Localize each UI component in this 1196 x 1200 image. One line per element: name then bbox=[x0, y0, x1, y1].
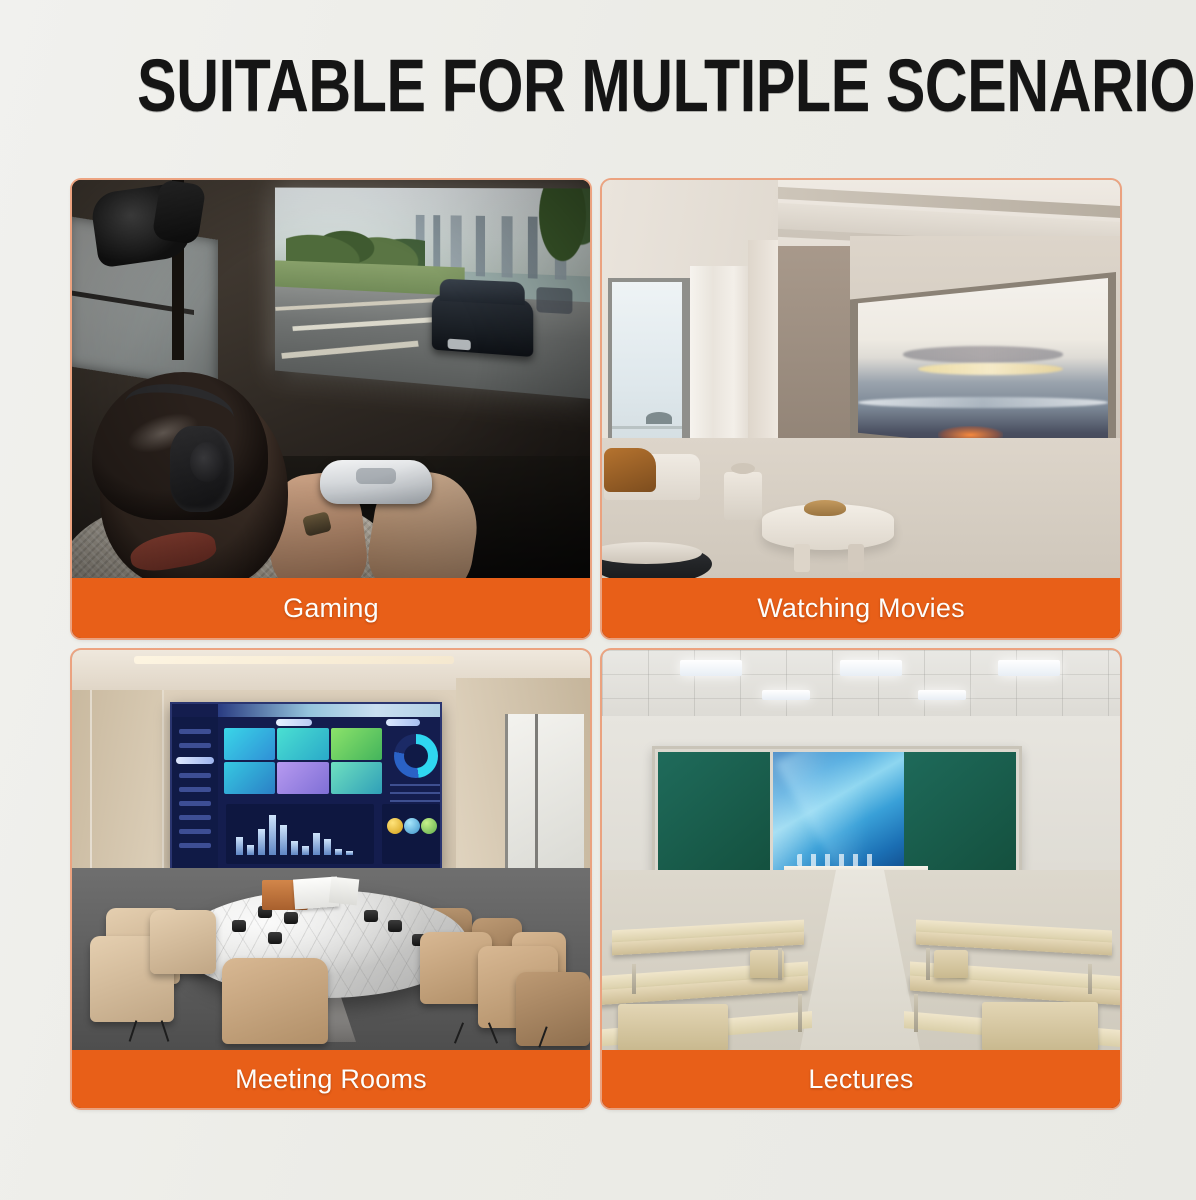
lecture-hall-photo bbox=[602, 650, 1120, 1050]
bar bbox=[346, 851, 353, 855]
gauge-blue bbox=[404, 818, 420, 834]
window-island-view bbox=[646, 412, 672, 424]
classroom-projection-screen bbox=[773, 752, 905, 870]
bar bbox=[335, 849, 342, 855]
projector-screen bbox=[858, 278, 1108, 458]
kpi-tile bbox=[277, 728, 328, 760]
kpi-tile bbox=[224, 762, 275, 794]
coffee-table-leg bbox=[848, 544, 864, 572]
projection-desktop-icons bbox=[797, 854, 881, 867]
caption-lectures: Lectures bbox=[602, 1050, 1120, 1108]
ceiling-light-panel bbox=[680, 660, 742, 676]
dashboard-gauges bbox=[382, 804, 440, 864]
bar bbox=[291, 841, 298, 855]
side-table bbox=[724, 472, 762, 520]
dashboard-menu-item bbox=[179, 743, 211, 748]
scenario-card-watching-movies[interactable]: Watching Movies bbox=[602, 180, 1120, 638]
bar bbox=[269, 815, 276, 855]
desk-leg bbox=[914, 994, 918, 1032]
bar bbox=[258, 829, 265, 855]
conference-chair bbox=[516, 972, 590, 1046]
ceiling-light-panel bbox=[918, 690, 966, 700]
bar bbox=[302, 846, 309, 855]
meeting-cove-light bbox=[134, 656, 454, 664]
desk-leg bbox=[632, 964, 636, 994]
dashboard-menu-item bbox=[179, 773, 211, 778]
product-feature-page: SUITABLE FOR MULTIPLE SCENARIOS bbox=[0, 0, 1196, 1200]
dashboard-menu-item bbox=[179, 815, 211, 820]
dashboard-menu-item bbox=[179, 829, 211, 834]
ceiling-light-panel bbox=[840, 660, 902, 676]
page-title: SUITABLE FOR MULTIPLE SCENARIOS bbox=[137, 48, 1196, 124]
dashboard-menu-item-active bbox=[176, 757, 214, 764]
dashboard-display bbox=[170, 702, 442, 870]
kpi-tile bbox=[331, 728, 382, 760]
dashboard-header-bar bbox=[218, 704, 442, 717]
scenario-card-lectures[interactable]: Lectures bbox=[602, 650, 1120, 1108]
chalkboard-assembly bbox=[652, 746, 1022, 874]
conference-microphone bbox=[284, 912, 298, 924]
conference-chair bbox=[222, 958, 328, 1044]
dashboard-bar-chart bbox=[226, 804, 374, 864]
dashboard-menu-item bbox=[179, 729, 211, 734]
dashboard-menu-item bbox=[179, 787, 211, 792]
classroom-seat bbox=[982, 1002, 1098, 1050]
bar bbox=[280, 825, 287, 855]
chalkboard-left bbox=[658, 752, 770, 870]
screen-sunset-band bbox=[918, 363, 1063, 376]
desk-leg bbox=[798, 994, 802, 1032]
bar bbox=[247, 845, 254, 855]
watching-movies-photo bbox=[602, 180, 1120, 578]
caption-gaming: Gaming bbox=[72, 578, 590, 638]
caption-meeting-rooms: Meeting Rooms bbox=[72, 1050, 590, 1108]
meeting-room-photo bbox=[72, 650, 590, 1050]
caption-watching-movies: Watching Movies bbox=[602, 578, 1120, 638]
screen-wave-crest bbox=[858, 397, 1108, 408]
ceiling-light-panel bbox=[762, 690, 810, 700]
conference-microphone bbox=[388, 920, 402, 932]
ceiling-light-panel bbox=[998, 660, 1060, 676]
desk-leg bbox=[926, 948, 930, 980]
paper-document bbox=[329, 877, 360, 906]
dashboard-section-title bbox=[386, 719, 420, 726]
dashboard-kpi-tiles bbox=[224, 728, 382, 794]
dashboard-menu-item bbox=[179, 801, 211, 806]
gaming-photo bbox=[72, 180, 590, 578]
bar bbox=[236, 837, 243, 855]
throw-blanket bbox=[604, 448, 656, 492]
desk-leg bbox=[1088, 964, 1092, 994]
kpi-tile bbox=[331, 762, 382, 794]
conference-microphone bbox=[232, 920, 246, 932]
bar bbox=[313, 833, 320, 855]
gaming-vignette bbox=[72, 180, 590, 578]
dashboard-donut-chart bbox=[394, 734, 438, 778]
dashboard-section-title bbox=[276, 719, 312, 726]
bar bbox=[324, 839, 331, 855]
kpi-tile bbox=[277, 762, 328, 794]
scenario-card-meeting-rooms[interactable]: Meeting Rooms bbox=[72, 650, 590, 1108]
screen-clouds bbox=[903, 346, 1063, 362]
gauge-green bbox=[421, 818, 437, 834]
dashboard-sidebar bbox=[172, 717, 218, 870]
gauge-yellow bbox=[387, 818, 403, 834]
dashboard-menu-item bbox=[179, 843, 211, 848]
scenario-grid: Gaming bbox=[72, 180, 1120, 1108]
decor-bowl bbox=[804, 500, 846, 516]
scenario-card-gaming[interactable]: Gaming bbox=[72, 180, 590, 638]
classroom-seat bbox=[618, 1004, 728, 1050]
kpi-tile bbox=[224, 728, 275, 760]
classroom-seat bbox=[934, 950, 968, 978]
conference-microphone bbox=[268, 932, 282, 944]
coffee-table-leg bbox=[794, 544, 810, 572]
conference-chair bbox=[150, 910, 216, 974]
chalkboard-right bbox=[904, 752, 1016, 870]
page-title-wrapper: SUITABLE FOR MULTIPLE SCENARIOS bbox=[0, 48, 1196, 124]
desk-leg bbox=[778, 948, 782, 980]
conference-microphone bbox=[364, 910, 378, 922]
